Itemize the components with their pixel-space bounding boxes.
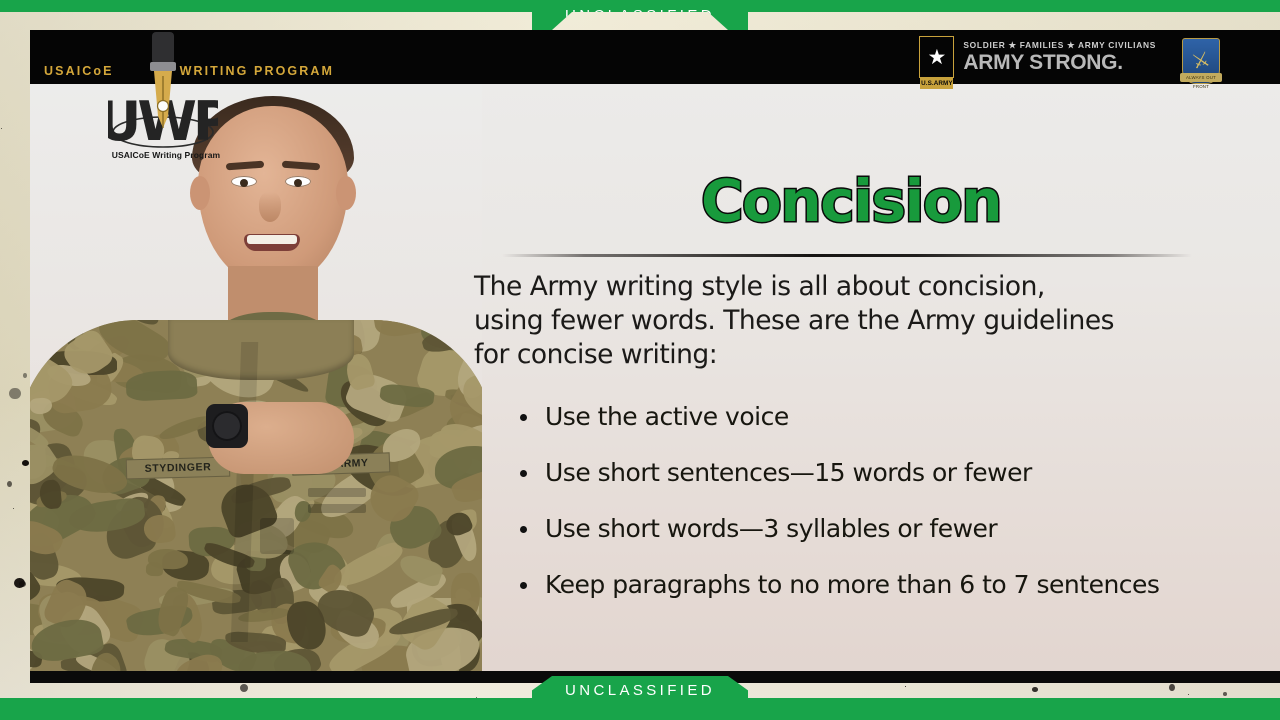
program-title-right: WRITING PROGRAM [180,64,334,78]
classification-banner-bottom: UNCLASSIFIED [532,676,748,700]
classification-banner-bottom-label: UNCLASSIFIED [565,682,715,699]
list-item: Keep paragraphs to no more than 6 to 7 s… [520,570,1220,599]
list-item: Use the active voice [520,402,1220,431]
unit-crest-motto: ALWAYS OUT FRONT [1180,73,1222,82]
page-title: Concision [506,172,1196,230]
slide-frame: STYDINGER U.S.ARMY USAICoEWRITING PROGRA… [30,30,1280,683]
program-title-left: USAICoE [44,64,114,78]
uniform-collar [168,320,354,380]
bullet-dot-icon [520,582,527,589]
presenter-pupil-right [294,179,302,187]
army-strong-tagline: SOLDIER ★ FAMILIES ★ ARMY CIVILIANS [963,41,1156,49]
army-strong-wordmark: ARMY STRONG. [963,52,1156,73]
presenter-ear-left [190,176,210,210]
wristwatch-icon [206,404,248,448]
uwp-logo-caption: USAICoE Writing Program [76,150,256,160]
presenter-rank-insignia-icon [260,518,294,554]
intro-line-1: The Army writing style is all about conc… [474,270,1214,304]
slide-header-bar: USAICoEWRITING PROGRAM ★ U.S.ARMY SOLDIE… [30,30,1280,84]
title-divider [502,254,1192,257]
list-item-label: Use short words—3 syllables or fewer [545,514,997,543]
unit-crest-icon: ⚔ ALWAYS OUT FRONT [1182,38,1220,84]
presenter-ear-right [336,176,356,210]
intro-line-3: for concise writing: [474,338,1214,372]
bullet-dot-icon [520,414,527,421]
uniform-badge-upper [308,488,366,497]
intro-line-2: using fewer words. These are the Army gu… [474,304,1214,338]
army-strong-lockup: ★ U.S.ARMY SOLDIER ★ FAMILIES ★ ARMY CIV… [919,36,1156,78]
presenter-nose [259,192,281,222]
presenter-pupil-left [240,179,248,187]
uniform-badge-lower [308,504,366,513]
bottom-green-strip [0,698,1280,720]
presenter-uniform-torso: STYDINGER U.S.ARMY [30,320,482,672]
army-star-label: U.S.ARMY [920,78,953,89]
presenter-teeth [247,235,297,244]
army-star-icon: ★ U.S.ARMY [919,36,954,78]
guidelines-list: Use the active voice Use short sentences… [520,402,1220,626]
list-item-label: Keep paragraphs to no more than 6 to 7 s… [545,570,1159,599]
slide-stage: UNCLASSIFIED [0,0,1280,720]
list-item: Use short words—3 syllables or fewer [520,514,1220,543]
intro-paragraph: The Army writing style is all about conc… [474,270,1214,372]
list-item-label: Use short sentences—15 words or fewer [545,458,1032,487]
list-item: Use short sentences—15 words or fewer [520,458,1220,487]
list-item-label: Use the active voice [545,402,789,431]
bullet-dot-icon [520,470,527,477]
program-title: USAICoEWRITING PROGRAM [44,64,334,78]
presenter-mouth [244,234,300,251]
presenter-video[interactable]: STYDINGER U.S.ARMY [30,84,482,672]
bullet-dot-icon [520,526,527,533]
